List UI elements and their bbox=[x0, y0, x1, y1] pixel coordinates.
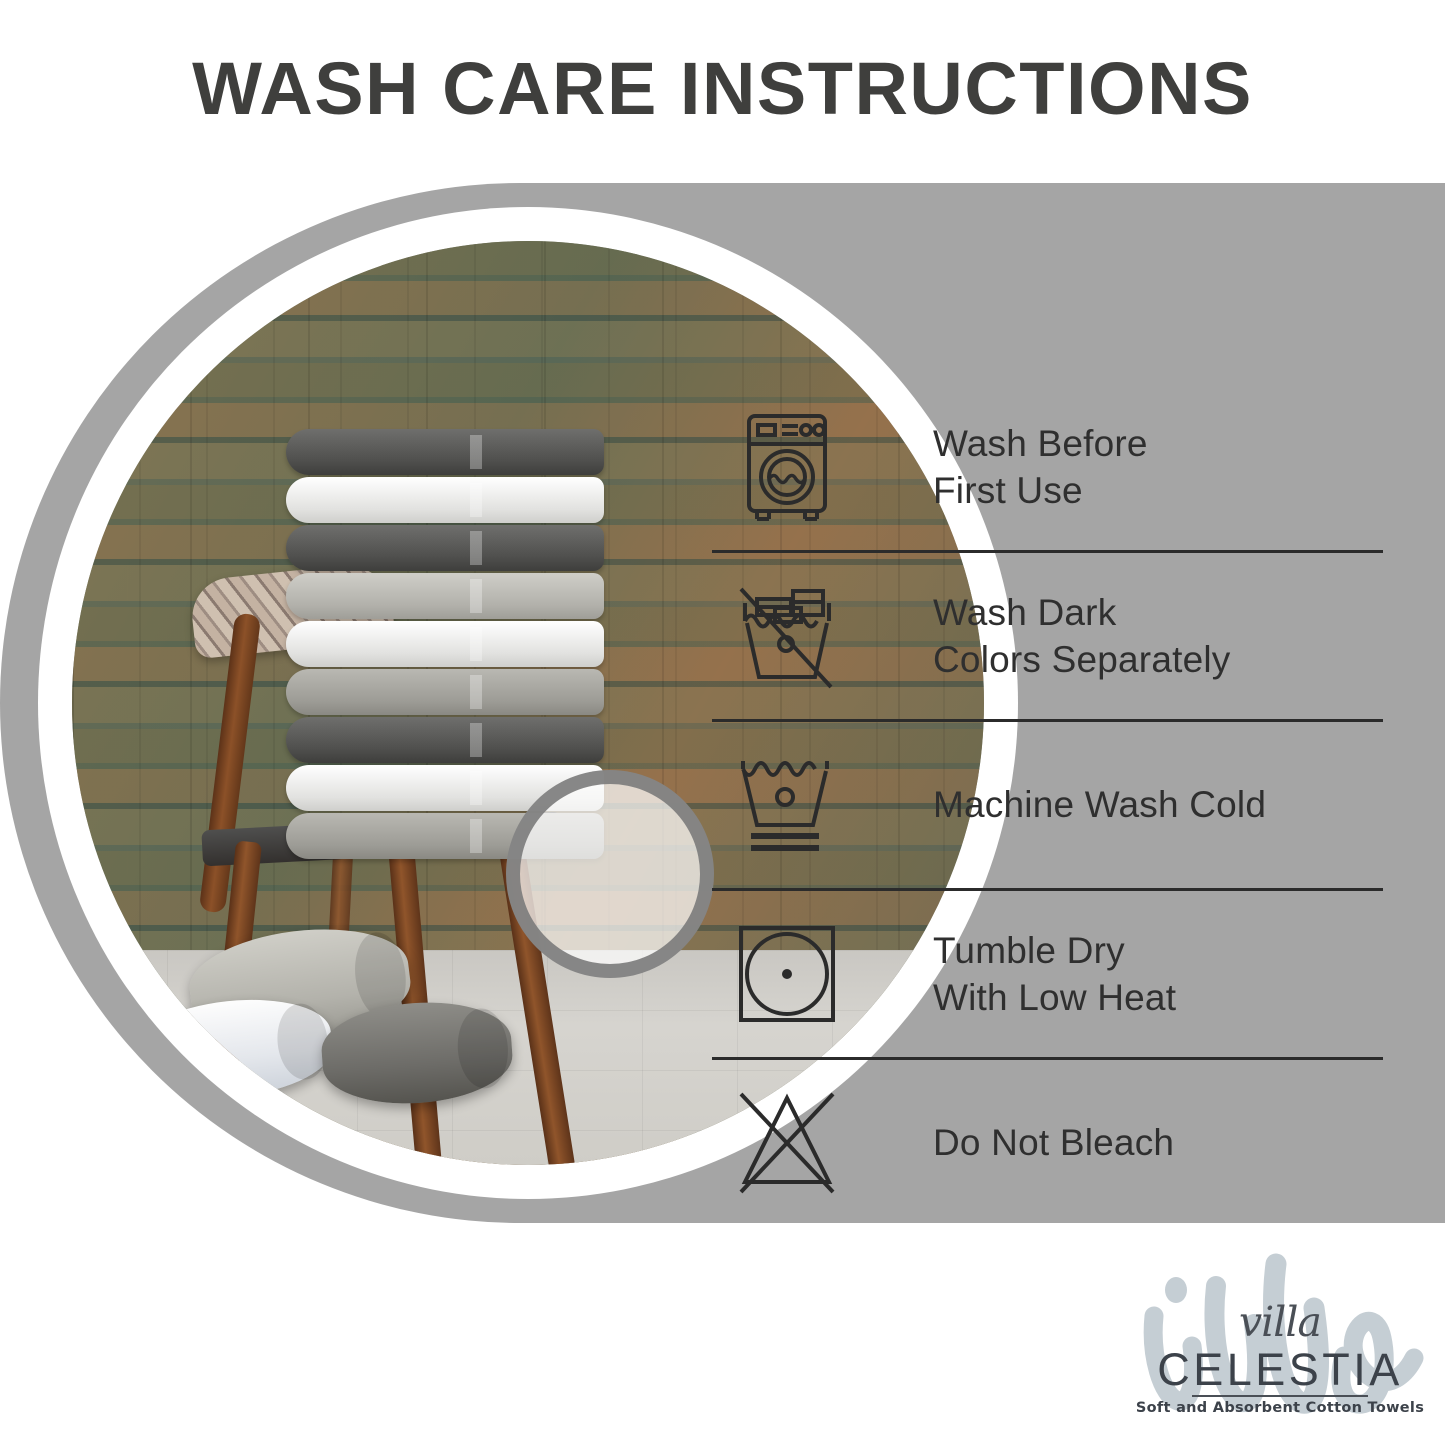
instruction-label: Wash Dark Colors Separately bbox=[862, 589, 1231, 684]
instructions-list: Wash Before First Use bbox=[712, 384, 1383, 1223]
wash-care-infographic: WASH CARE INSTRUCTIONS bbox=[0, 0, 1445, 1445]
do-not-bleach-icon bbox=[712, 1088, 862, 1198]
circle-accent-overlay bbox=[506, 770, 714, 978]
folded-towel bbox=[286, 477, 604, 523]
logo-script-name: villa bbox=[1130, 1298, 1430, 1346]
gray-panel: Wash Before First Use bbox=[0, 183, 1445, 1223]
instruction-row: Do Not Bleach bbox=[712, 1060, 1383, 1223]
instruction-label: Machine Wash Cold bbox=[862, 781, 1266, 828]
instruction-row: Machine Wash Cold bbox=[712, 722, 1383, 891]
washing-machine-icon bbox=[712, 411, 862, 523]
brand-logo: villa CELESTIA Soft and Absorbent Cotton… bbox=[1130, 1248, 1430, 1438]
instruction-row: Wash Dark Colors Separately bbox=[712, 553, 1383, 722]
instruction-row: Wash Before First Use bbox=[712, 384, 1383, 553]
folded-towel bbox=[286, 573, 604, 619]
logo-tagline: Soft and Absorbent Cotton Towels bbox=[1130, 1400, 1430, 1416]
instruction-label: Tumble Dry With Low Heat bbox=[862, 927, 1176, 1022]
folded-towel bbox=[286, 525, 604, 571]
folded-towel bbox=[286, 621, 604, 667]
no-mixed-colors-basket-icon bbox=[712, 583, 862, 689]
machine-wash-cold-icon bbox=[712, 755, 862, 855]
folded-towel bbox=[286, 717, 604, 763]
logo-brand-name: CELESTIA bbox=[1130, 1344, 1430, 1396]
instruction-row: Tumble Dry With Low Heat bbox=[712, 891, 1383, 1060]
folded-towel bbox=[286, 669, 604, 715]
instruction-label: Do Not Bleach bbox=[862, 1119, 1174, 1166]
folded-towel bbox=[286, 429, 604, 475]
logo-divider bbox=[1192, 1395, 1368, 1397]
tumble-dry-low-heat-icon bbox=[712, 922, 862, 1026]
instruction-label: Wash Before First Use bbox=[862, 420, 1148, 515]
page-title: WASH CARE INSTRUCTIONS bbox=[0, 46, 1445, 131]
